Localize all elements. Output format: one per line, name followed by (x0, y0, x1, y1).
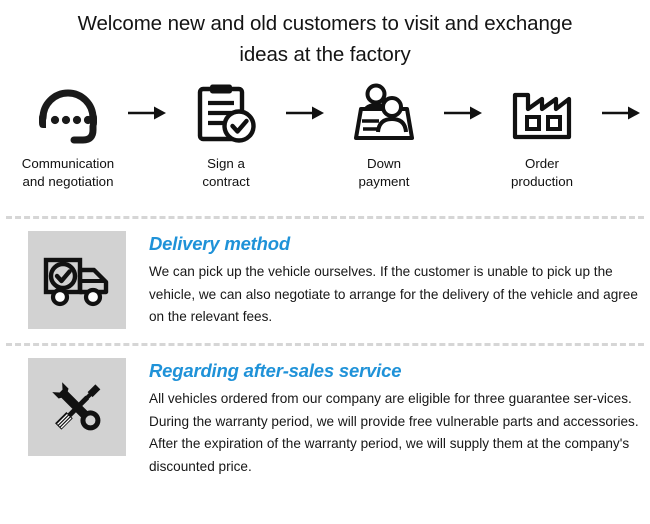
delivery-method-heading: Delivery method (149, 233, 640, 255)
flow-step-label: Order production (511, 155, 573, 191)
arrow-right-icon (440, 80, 486, 146)
delivery-method-body: Delivery method We can pick up the vehic… (149, 231, 640, 329)
arrow-right-icon (282, 80, 328, 146)
delivery-method-section: Delivery method We can pick up the vehic… (0, 219, 650, 329)
wrench-screwdriver-icon (28, 358, 126, 456)
after-sales-heading: Regarding after-sales service (149, 360, 640, 382)
flow-step-sign-contract: Sign a contract (170, 80, 282, 191)
clipboard-check-icon (195, 80, 257, 146)
after-sales-text: All vehicles ordered from our company ar… (149, 388, 639, 478)
flow-step-order-production: Order production (486, 80, 598, 191)
after-sales-section: Regarding after-sales service All vehicl… (0, 346, 650, 478)
page-title: Welcome new and old customers to visit a… (0, 0, 650, 70)
delivery-truck-check-icon (28, 231, 126, 329)
factory-icon (511, 80, 573, 146)
flow-step-communication: Communication and negotiation (12, 80, 124, 191)
arrow-right-icon (124, 80, 170, 146)
flow-step-label: Communication and negotiation (22, 155, 114, 191)
flow-step-label: Down payment (359, 155, 410, 191)
flow-step-label: Sign a contract (202, 155, 249, 191)
flow-step-acceptance: Acceptance and final payment (644, 80, 650, 191)
after-sales-body: Regarding after-sales service All vehicl… (149, 358, 640, 478)
process-flow: Communication and negotiation Sign a con… (0, 70, 650, 198)
people-counter-icon (352, 80, 416, 146)
arrow-right-icon (598, 80, 644, 146)
headset-icon (33, 80, 103, 146)
flow-step-down-payment: Down payment (328, 80, 440, 191)
delivery-method-text: We can pick up the vehicle ourselves. If… (149, 261, 639, 329)
